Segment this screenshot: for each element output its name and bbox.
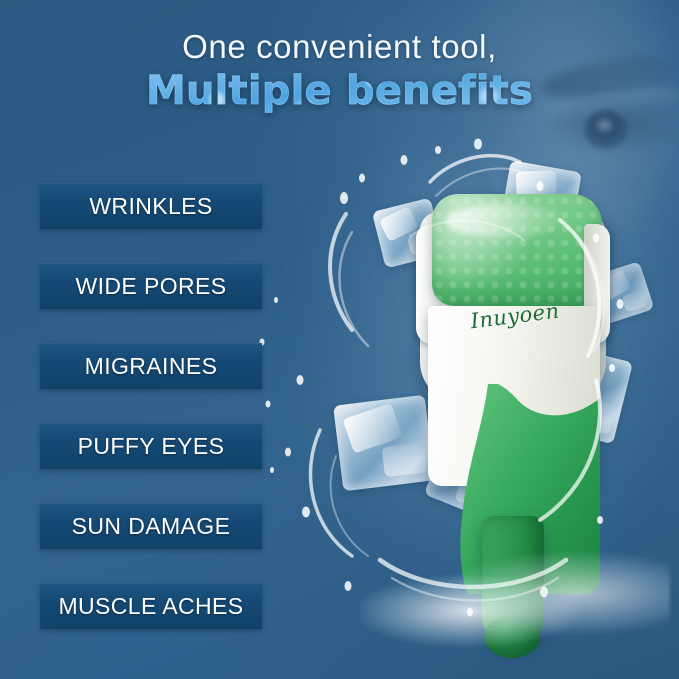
headline-line-2: Multiple benefits [0, 68, 679, 114]
benefit-item-puffy-eyes: PUFFY EYES [40, 423, 262, 469]
benefit-item-wide-pores: WIDE PORES [40, 263, 262, 309]
roller-highlight [446, 204, 566, 238]
benefit-label: WIDE PORES [76, 273, 227, 300]
benefit-item-migraines: MIGRAINES [40, 343, 262, 389]
benefit-label: SUN DAMAGE [72, 513, 231, 540]
benefit-label: MUSCLE ACHES [58, 593, 243, 620]
bottom-water-splash [360, 545, 670, 665]
roller-head [432, 194, 602, 306]
benefit-label: MIGRAINES [85, 353, 218, 380]
benefit-label: PUFFY EYES [78, 433, 225, 460]
benefit-item-wrinkles: WRINKLES [40, 183, 262, 229]
benefit-label: WRINKLES [89, 193, 212, 220]
benefit-item-sun-damage: SUN DAMAGE [40, 503, 262, 549]
headline-line-1: One convenient tool, [0, 28, 679, 66]
marketing-image: Inuyoen [0, 0, 679, 679]
headline: One convenient tool, Multiple benefits [0, 28, 679, 114]
benefit-item-muscle-aches: MUSCLE ACHES [40, 583, 262, 629]
